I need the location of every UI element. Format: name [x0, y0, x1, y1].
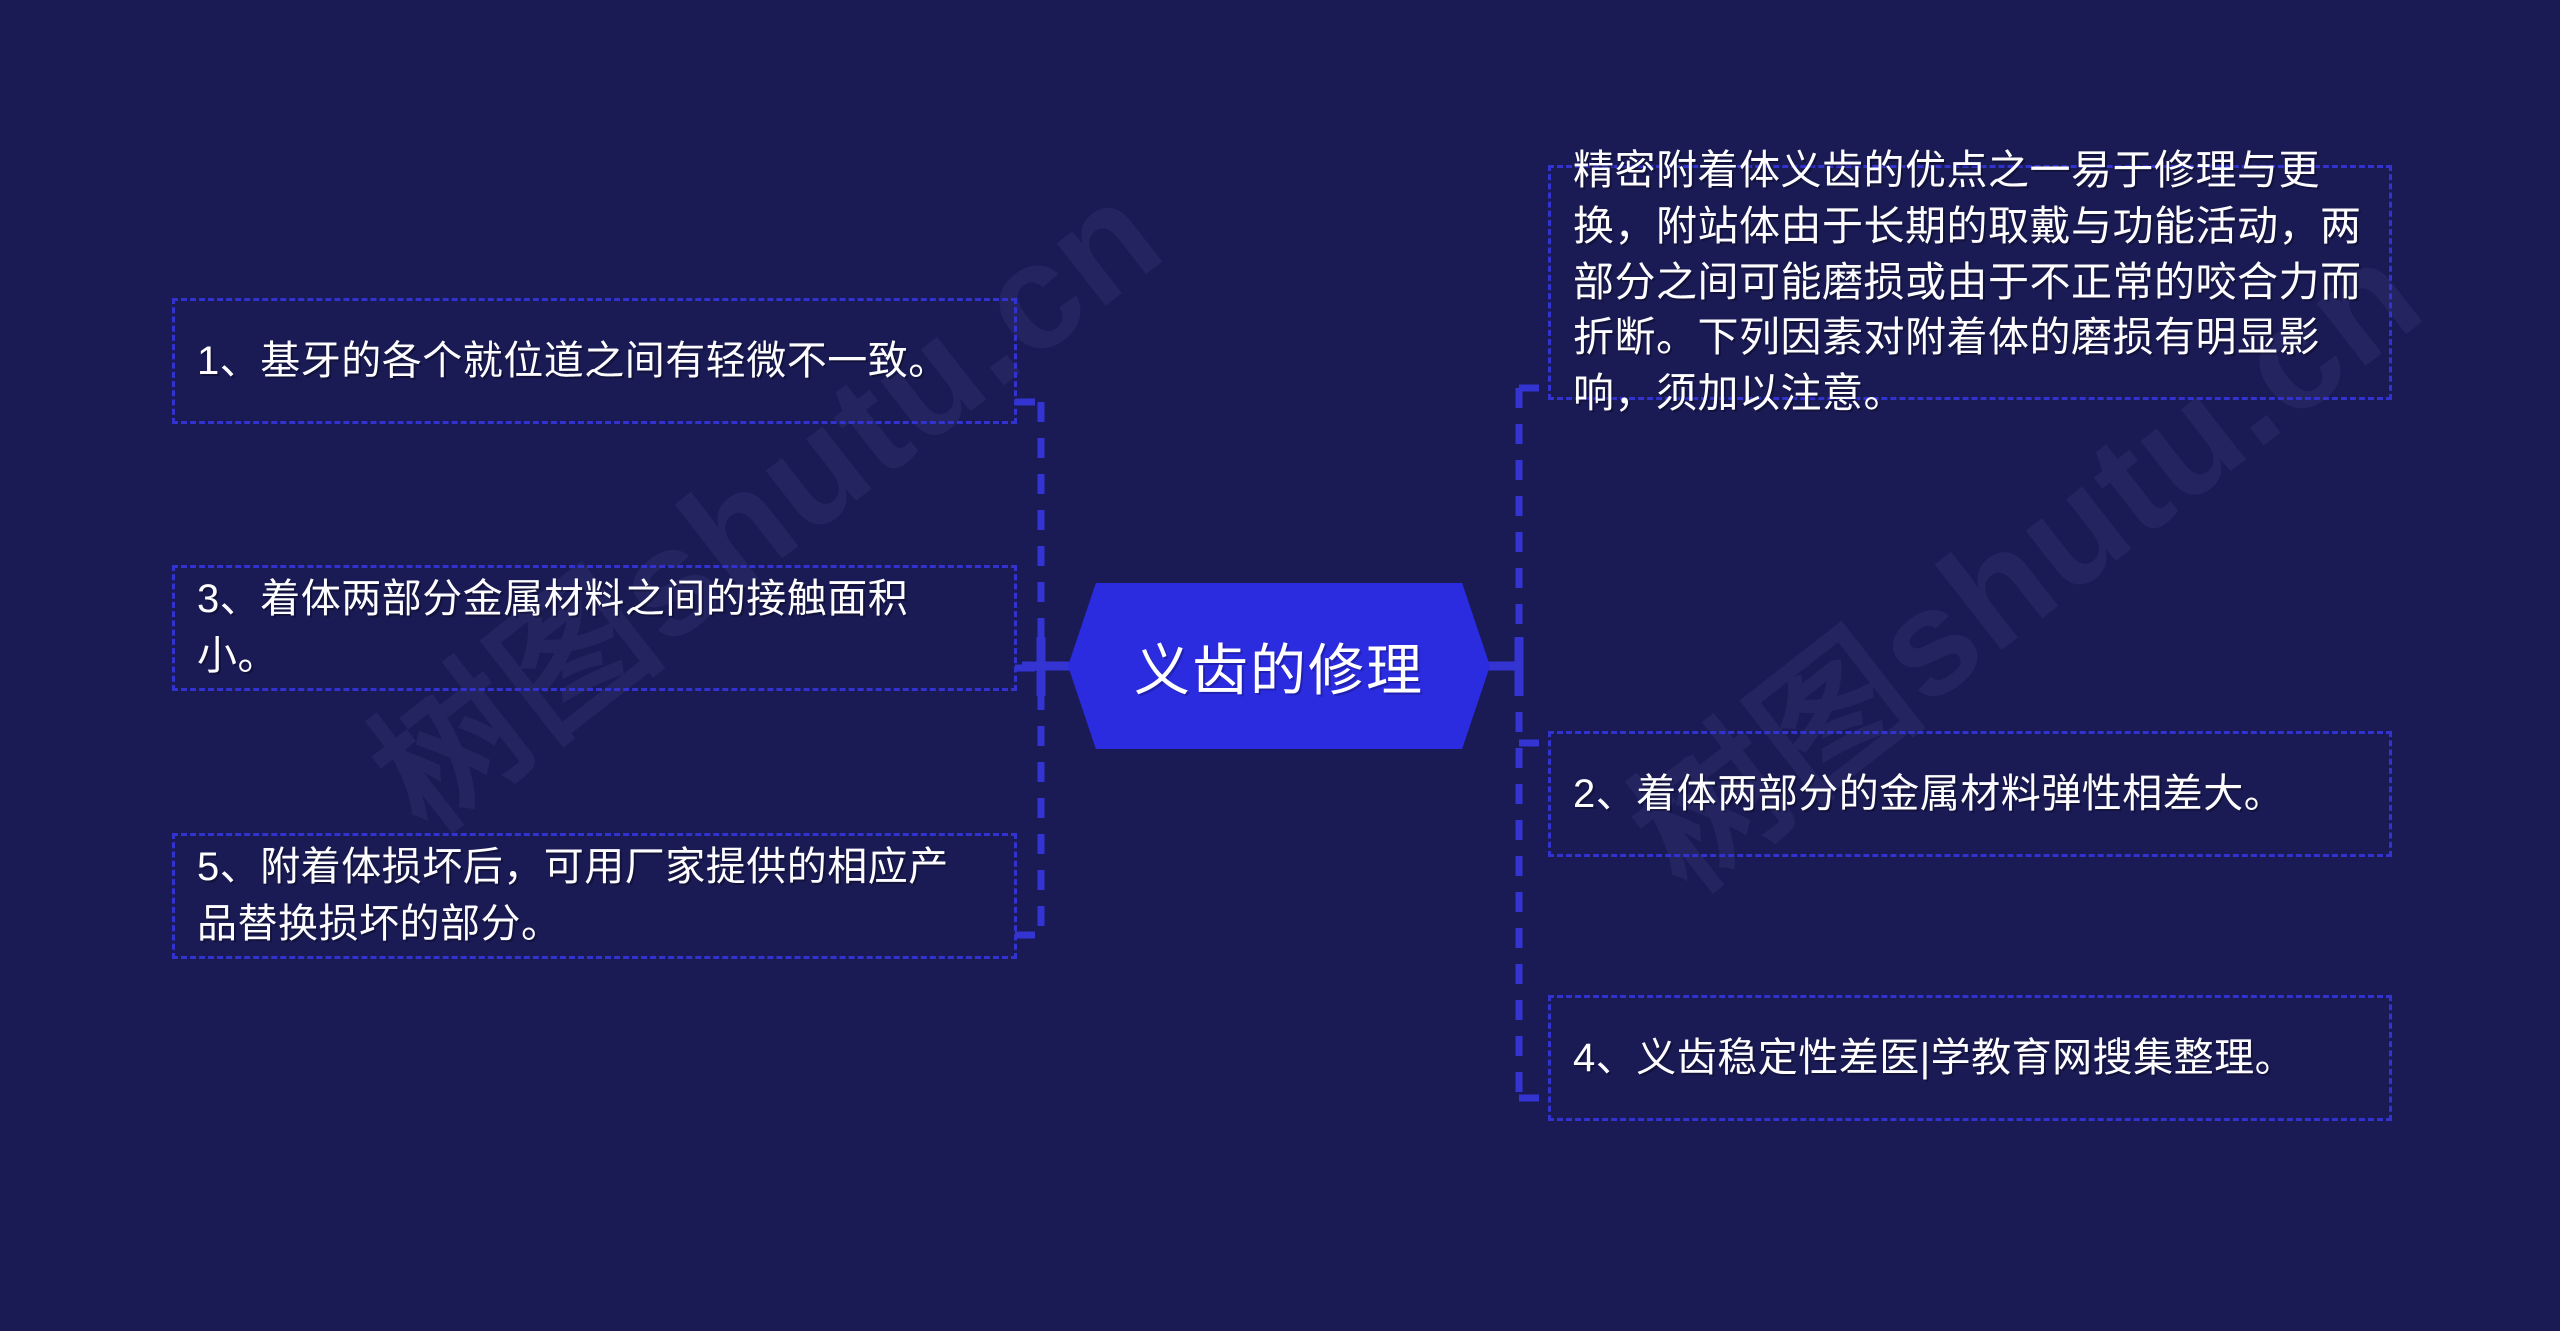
node-right-2[interactable]: 2、着体两部分的金属材料弹性相差大。 [1548, 731, 2392, 857]
node-left-5-text: 5、附着体损坏后，可用厂家提供的相应产品替换损坏的部分。 [175, 839, 1014, 953]
node-left-3[interactable]: 3、着体两部分金属材料之间的接触面积小。 [172, 565, 1017, 691]
central-node-label: 义齿的修理 [1134, 626, 1424, 707]
node-left-1[interactable]: 1、基牙的各个就位道之间有轻微不一致。 [172, 298, 1017, 424]
node-right-2-text: 2、着体两部分的金属材料弹性相差大。 [1551, 766, 2389, 823]
node-right-intro[interactable]: 精密附着体义齿的优点之一易于修理与更换，附站体由于长期的取戴与功能活动，两部分之… [1548, 165, 2392, 400]
mindmap-canvas: 树图shutu.cn 树图shutu.cn 1、基牙的各个就位道之间有轻微不一致… [0, 0, 2560, 1331]
node-left-5[interactable]: 5、附着体损坏后，可用厂家提供的相应产品替换损坏的部分。 [172, 833, 1017, 959]
node-left-1-text: 1、基牙的各个就位道之间有轻微不一致。 [175, 333, 1014, 390]
watermark-text-1: 树图shutu.cn [320, 118, 1198, 871]
node-left-3-text: 3、着体两部分金属材料之间的接触面积小。 [175, 571, 1014, 685]
central-node[interactable]: 义齿的修理 [1068, 583, 1490, 749]
node-right-4-text: 4、义齿稳定性差医|学教育网搜集整理。 [1551, 1030, 2389, 1087]
node-right-intro-text: 精密附着体义齿的优点之一易于修理与更换，附站体由于长期的取戴与功能活动，两部分之… [1551, 143, 2389, 422]
node-right-4[interactable]: 4、义齿稳定性差医|学教育网搜集整理。 [1548, 995, 2392, 1121]
